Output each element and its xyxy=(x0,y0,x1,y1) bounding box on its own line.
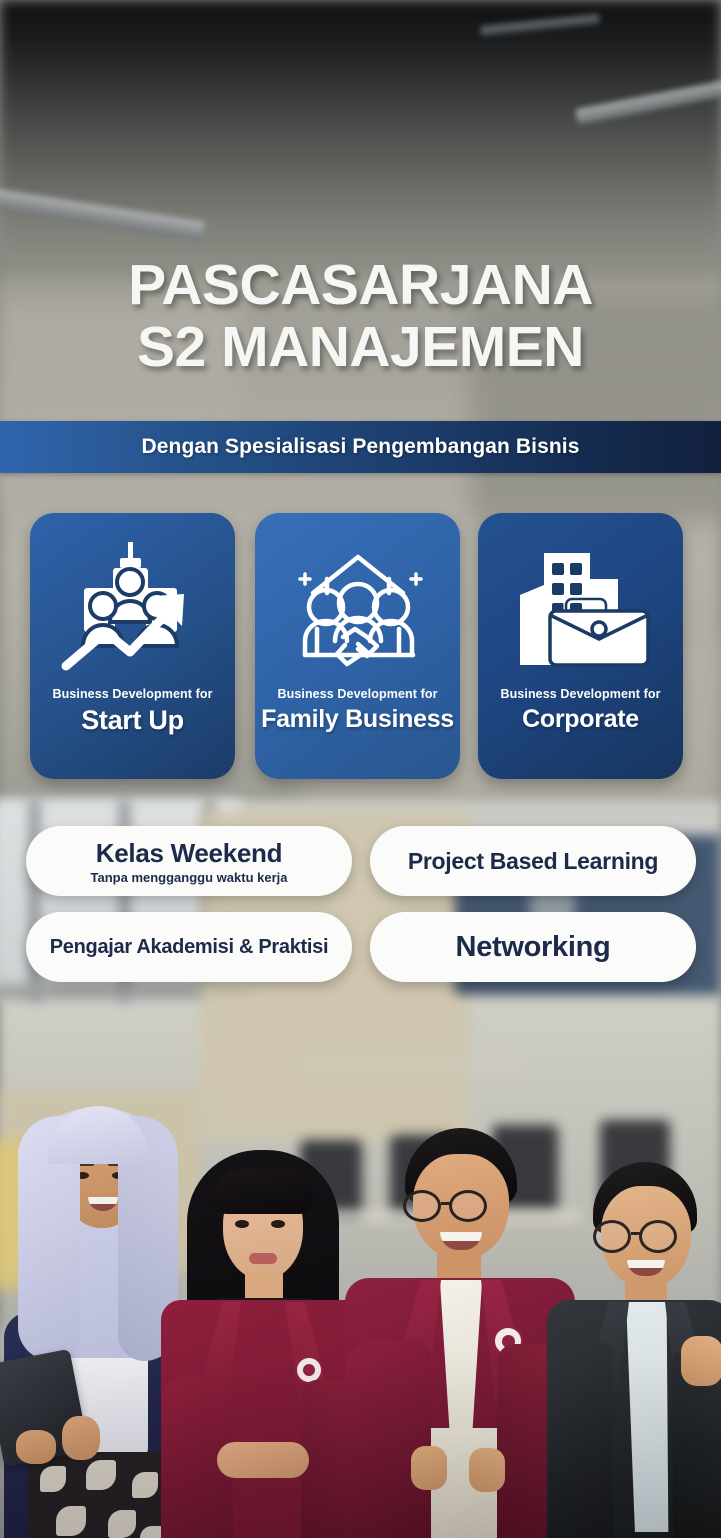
subtitle-text: Dengan Spesialisasi Pengembangan Bisnis xyxy=(141,435,579,459)
card-subtitle: Business Development for xyxy=(500,687,660,701)
pill-title: Project Based Learning xyxy=(408,848,658,875)
eyeglass-bridge xyxy=(631,1232,641,1235)
person-woman-maroon-blazer xyxy=(155,1150,370,1538)
crossed-hands xyxy=(217,1442,309,1478)
desk xyxy=(300,1060,530,1070)
specialization-cards: Business Development for Start Up xyxy=(0,513,721,783)
pill-title: Pengajar Akademisi & Praktisi xyxy=(50,936,328,959)
hand xyxy=(62,1416,100,1460)
card-family-business[interactable]: Business Development for Family Business xyxy=(255,513,460,779)
pill-title: Kelas Weekend xyxy=(96,838,282,869)
eyeglasses xyxy=(403,1190,441,1222)
hand xyxy=(411,1446,447,1490)
pill-pengajar-akademisi-praktisi[interactable]: Pengajar Akademisi & Praktisi xyxy=(26,912,352,982)
eyeglass-bridge xyxy=(441,1202,451,1205)
office-building-briefcase-icon xyxy=(506,535,656,685)
hand xyxy=(469,1448,505,1492)
pill-project-based-learning[interactable]: Project Based Learning xyxy=(370,826,696,896)
pill-subtitle: Tanpa mengganggu waktu kerja xyxy=(91,870,288,885)
page-title: PASCASARJANA S2 MANAJEMEN xyxy=(0,255,721,378)
eyeglasses xyxy=(449,1190,487,1222)
subtitle-band: Dengan Spesialisasi Pengembangan Bisnis xyxy=(0,421,721,473)
headline-line-2: S2 MANAJEMEN xyxy=(0,317,721,379)
person-man-maroon-blazer xyxy=(345,1128,575,1538)
eyeglasses xyxy=(593,1220,631,1253)
hand xyxy=(681,1336,721,1386)
eyeglasses xyxy=(639,1220,677,1253)
pill-networking[interactable]: Networking xyxy=(370,912,696,982)
card-subtitle: Business Development for xyxy=(277,687,437,701)
pill-kelas-weekend[interactable]: Kelas Weekend Tanpa mengganggu waktu ker… xyxy=(26,826,352,896)
card-subtitle: Business Development for xyxy=(52,687,212,701)
card-title: Corporate xyxy=(522,705,639,734)
hijab-front xyxy=(18,1106,176,1361)
arm xyxy=(345,1340,431,1538)
family-house-handshake-icon xyxy=(283,535,433,685)
card-corporate[interactable]: Business Development for Corporate xyxy=(478,513,683,779)
card-start-up[interactable]: Business Development for Start Up xyxy=(30,513,235,779)
hand xyxy=(16,1430,56,1464)
person-man-dark-blazer xyxy=(545,1080,721,1538)
headline-line-1: PASCASARJANA xyxy=(128,253,593,317)
students-photo-group xyxy=(0,1080,721,1538)
hair-bangs xyxy=(213,1168,313,1214)
pill-title: Networking xyxy=(456,931,611,964)
card-title: Start Up xyxy=(81,705,184,736)
growth-chart-people-icon xyxy=(58,535,208,685)
card-title: Family Business xyxy=(261,705,454,734)
arm xyxy=(547,1342,613,1538)
lips xyxy=(249,1253,277,1264)
